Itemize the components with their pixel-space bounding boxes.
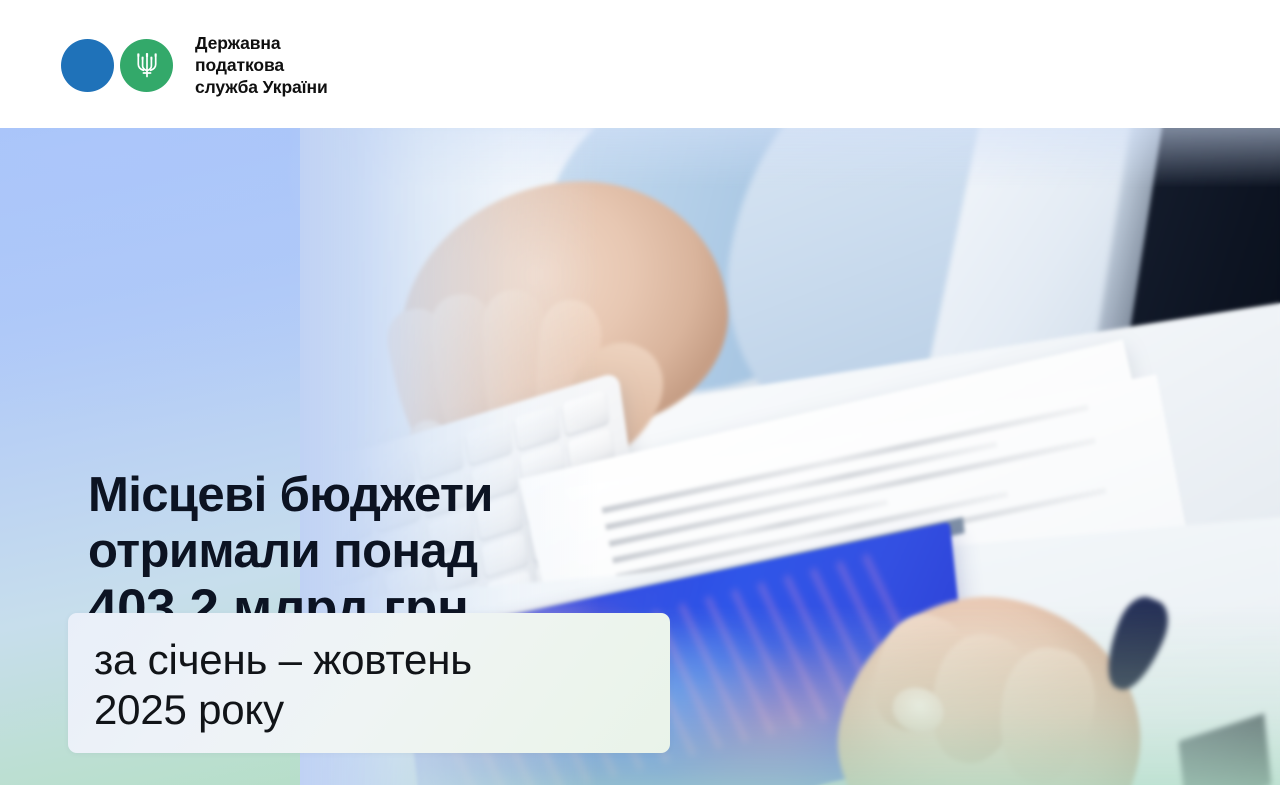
header-band: Державна податкова служба України xyxy=(0,0,1280,128)
ukraine-trident-icon xyxy=(134,50,160,80)
organization-logo: Державна податкова служба України xyxy=(61,32,328,98)
logo-marks xyxy=(61,39,173,92)
green-circle-icon xyxy=(120,39,173,92)
logo-text: Державна податкова служба України xyxy=(195,32,328,98)
artwork-area: Місцеві бюджети отримали понад 403,2 млр… xyxy=(0,128,1280,785)
subtitle-panel: за січень – жовтень 2025 року xyxy=(68,613,670,753)
poster-canvas: Державна податкова служба України xyxy=(0,0,1280,785)
blue-circle-icon xyxy=(61,39,114,92)
subtitle-text: за січень – жовтень 2025 року xyxy=(94,635,654,735)
headline-lead: Місцеві бюджети отримали понад xyxy=(88,468,493,578)
